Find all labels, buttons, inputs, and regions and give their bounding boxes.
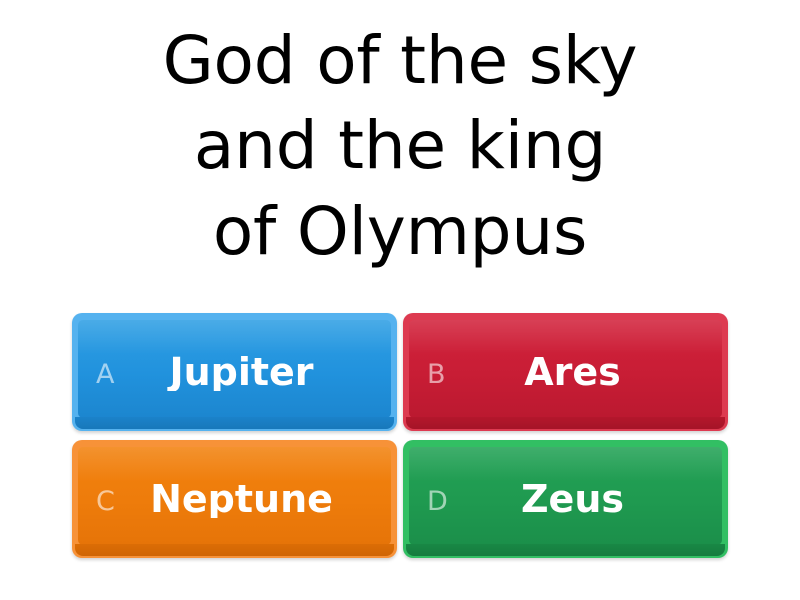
question-text: God of the sky and the king of Olympus <box>163 18 638 273</box>
answer-option-c-label: Neptune <box>130 480 397 518</box>
answer-option-c-content: C Neptune <box>72 440 397 558</box>
answer-option-d[interactable]: D Zeus <box>403 440 728 558</box>
quiz-stage: God of the sky and the king of Olympus A… <box>0 0 800 600</box>
answer-option-a-content: A Jupiter <box>72 313 397 431</box>
answer-options-grid: A Jupiter B Ares C Neptune <box>72 313 728 558</box>
answer-option-d-content: D Zeus <box>403 440 728 558</box>
answer-option-b-content: B Ares <box>403 313 728 431</box>
answer-option-a-letter: A <box>72 361 130 388</box>
answer-option-b[interactable]: B Ares <box>403 313 728 431</box>
answer-option-d-letter: D <box>403 488 461 515</box>
question-area: God of the sky and the king of Olympus <box>40 0 760 290</box>
answer-option-b-letter: B <box>403 361 461 388</box>
answer-option-a[interactable]: A Jupiter <box>72 313 397 431</box>
answer-option-a-label: Jupiter <box>130 353 397 391</box>
answer-option-b-label: Ares <box>461 353 728 391</box>
answer-option-d-label: Zeus <box>461 480 728 518</box>
answer-option-c-letter: C <box>72 488 130 515</box>
answer-option-c[interactable]: C Neptune <box>72 440 397 558</box>
